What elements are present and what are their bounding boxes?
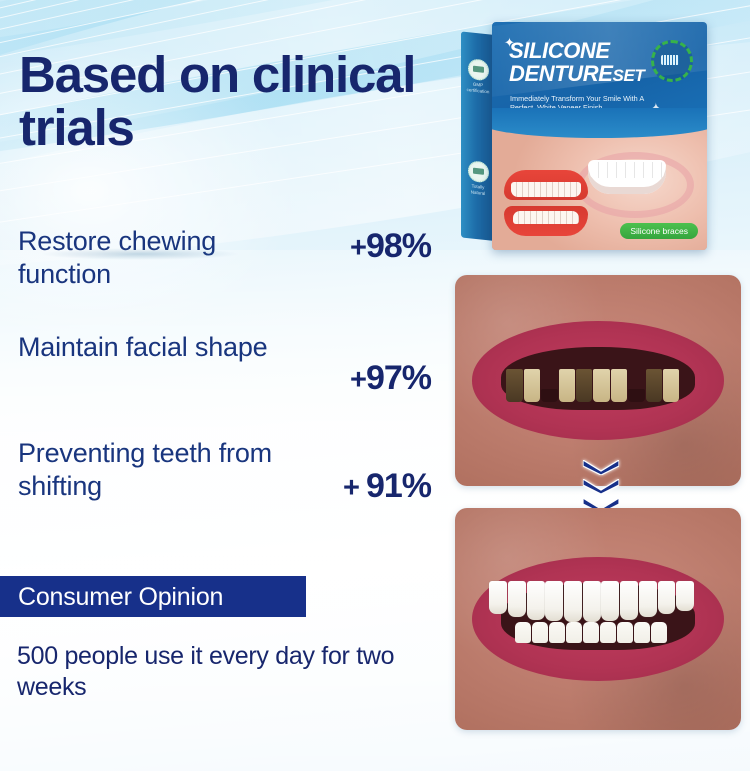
product-box: GMP certification Totally Natural ✦ ✦ ✦ … (461, 22, 707, 250)
headline-line-1: Based on clinical (19, 48, 449, 101)
benefit-value: 98% (366, 227, 431, 265)
benefit-row: Restore chewing function +98% (18, 225, 443, 301)
before-photo (455, 275, 741, 486)
benefit-row: Preventing teeth from shifting + 91% (18, 437, 443, 513)
consumer-opinion-label: Consumer Opinion (18, 583, 223, 612)
product-title: SILICONE DENTURESET (509, 39, 659, 87)
product-title-word-set: SET (613, 66, 645, 85)
benefit-percentage: +98% (350, 227, 431, 266)
product-title-line-1: SILICONE (509, 38, 610, 63)
silicone-braces-badge: Silicone braces (620, 223, 698, 239)
product-title-line-2: DENTURE (509, 61, 613, 86)
benefit-label: Maintain facial shape (18, 331, 293, 364)
page-title: Based on clinical trials (19, 48, 449, 154)
denture-seal-icon (651, 40, 693, 82)
benefit-percentage: +97% (350, 359, 431, 398)
before-damaged-teeth (506, 359, 689, 401)
benefit-percentage: + 91% (343, 467, 431, 506)
benefit-list: Restore chewing function +98% Maintain f… (18, 225, 443, 543)
gmp-certification-badge: GMP certification (466, 58, 490, 96)
chevron-down-icon (583, 479, 619, 494)
gmp-seal-icon (468, 58, 489, 81)
consumer-opinion-banner: Consumer Opinion (0, 576, 306, 617)
after-veneer-teeth (489, 581, 706, 643)
product-box-shadow (40, 248, 240, 260)
gmp-badge-line-2: certification (466, 87, 490, 96)
denture-lower (504, 206, 588, 236)
natural-badge: Totally Natural (466, 160, 490, 198)
model-teeth (588, 160, 666, 194)
denture-product-render (504, 170, 588, 236)
natural-badge-line-2: Natural (466, 189, 490, 198)
denture-upper (504, 170, 588, 200)
product-box-side-panel: GMP certification Totally Natural (461, 31, 495, 241)
benefit-value: 97% (366, 359, 431, 397)
benefit-plus-sign: + (350, 364, 366, 396)
chevron-down-icon (583, 460, 619, 475)
consumer-opinion-body: 500 people use it every day for two week… (17, 641, 437, 703)
box-model-photo: Silicone braces (492, 122, 707, 250)
benefit-row: Maintain facial shape +97% (18, 331, 443, 407)
after-photo (455, 508, 741, 730)
box-photo-wave-divider (492, 108, 707, 138)
benefit-plus-sign: + (350, 232, 366, 264)
product-box-front-panel: ✦ ✦ ✦ SILICONE DENTURESET Immediately Tr… (492, 22, 707, 250)
advertisement-canvas: Based on clinical trials Restore chewing… (0, 0, 750, 771)
benefit-plus-sign: + (343, 472, 366, 504)
benefit-label: Preventing teeth from shifting (18, 437, 293, 503)
benefit-value: 91% (366, 467, 431, 505)
natural-seal-icon (468, 160, 489, 183)
headline-line-2: trials (19, 101, 449, 154)
